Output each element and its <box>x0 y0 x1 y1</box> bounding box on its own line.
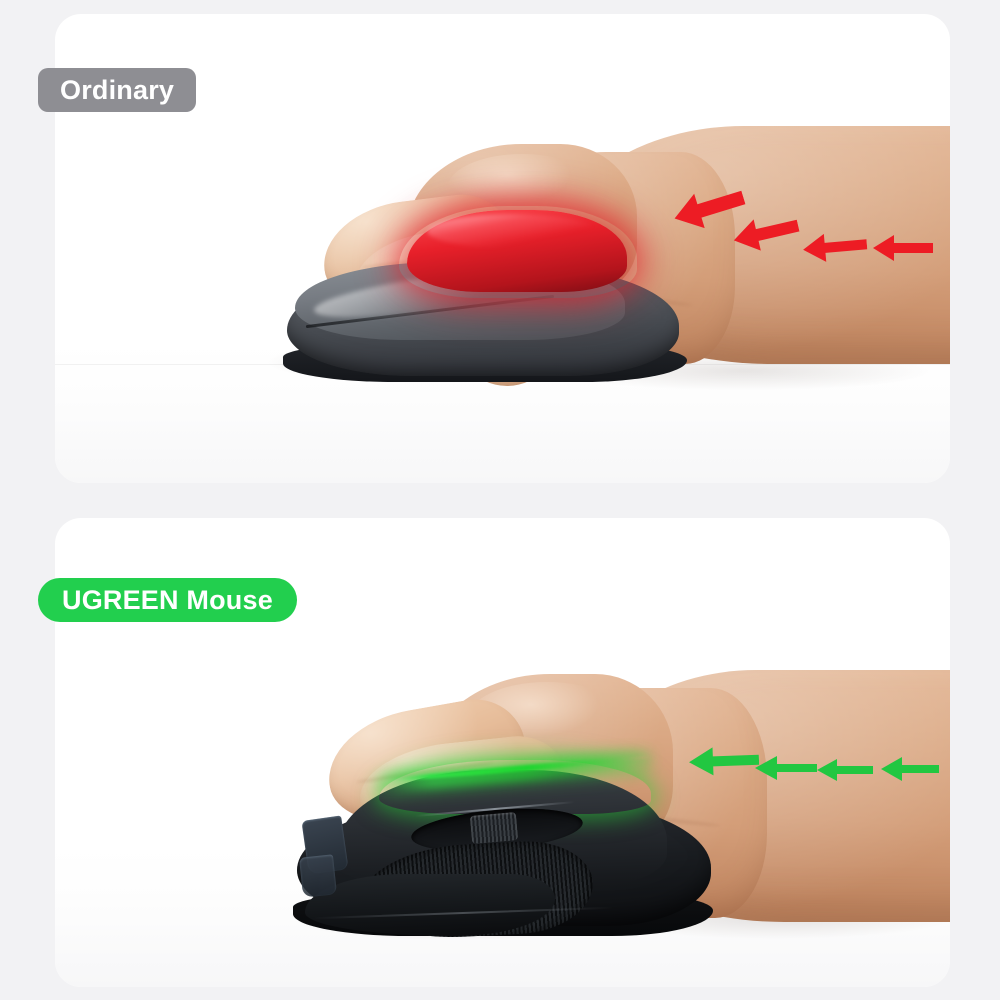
comparison-figure: Ordinary UGREEN Mouse <box>0 0 1000 1000</box>
pressure-arrow <box>873 233 933 263</box>
thumb-rest-flare <box>305 874 555 936</box>
pressure-arrow <box>881 755 939 783</box>
left-arrow-icon <box>802 228 869 265</box>
badge-ugreen-label: UGREEN Mouse <box>62 585 273 616</box>
scroll-wheel[interactable] <box>470 812 518 844</box>
pressure-arrow <box>755 754 817 782</box>
badge-ugreen: UGREEN Mouse <box>38 578 297 622</box>
left-arrow-icon <box>873 233 933 263</box>
side-button[interactable] <box>299 854 337 897</box>
left-arrow-icon <box>817 757 873 783</box>
pressure-arrow <box>802 228 869 265</box>
badge-ordinary-label: Ordinary <box>60 75 174 106</box>
pressure-arrow <box>817 757 873 783</box>
pressure-arrow <box>688 744 759 778</box>
left-arrow-icon <box>881 755 939 783</box>
left-arrow-icon <box>688 744 759 778</box>
left-arrow-icon <box>755 754 817 782</box>
badge-ordinary: Ordinary <box>38 68 196 112</box>
